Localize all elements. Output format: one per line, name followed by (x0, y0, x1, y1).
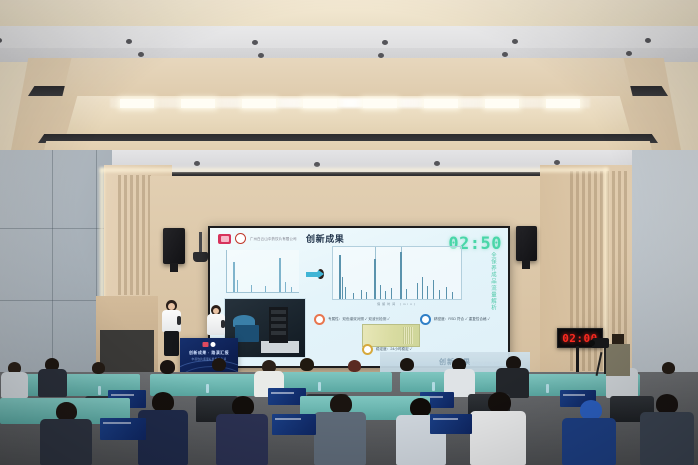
badge-gold-icon (362, 344, 373, 355)
audience-person (300, 358, 314, 371)
audience-person (662, 362, 675, 374)
slide-badge-precision: 精密度：RSD 符合 ✓ 重复性合格 ✓ (420, 314, 490, 325)
chair-back-banner (272, 414, 316, 435)
audience-person (488, 392, 511, 413)
audience-person (152, 392, 174, 412)
water-bottle (98, 386, 101, 395)
badge-blue-icon (420, 314, 431, 325)
ceiling-linear-lights (120, 99, 580, 108)
cove-light-top (100, 168, 608, 172)
lab-monitor (235, 325, 259, 342)
ceiling-upper-wood-strip (0, 0, 698, 28)
led-clock-stand (576, 346, 579, 372)
water-bottle (432, 382, 435, 391)
presentation-slide: 广州白云山中药饮片有限公司 创新成果 02:50 全保养成品流量解析 (210, 228, 508, 366)
audience-person (38, 369, 67, 397)
audience-person (400, 358, 414, 371)
badge-orange-label: 专属性：双色谱双对照 ✓ 双波长检测 ✓ (328, 317, 390, 322)
slide-title: 创新成果 (306, 232, 344, 245)
audience-person (1, 372, 28, 398)
podium-title: 创新成果 · 路演汇报 (180, 350, 238, 356)
pendant-light-cable (199, 232, 202, 254)
secondary-logo-icon (235, 233, 246, 244)
audience-person (314, 412, 366, 465)
loudspeaker-right-bracket (522, 260, 530, 269)
audience-person (330, 394, 352, 414)
projection-screen: 广州白云山中药饮片有限公司 创新成果 02:50 全保养成品流量解析 (208, 226, 510, 368)
instrument-rack (269, 307, 288, 343)
presenter-left-microphone (177, 316, 181, 325)
slide-main-chromatogram: 保留时间 (min) (332, 246, 462, 300)
slide-vertical-caption: 全保养成品流量解析 (489, 252, 497, 311)
conference-hall-photo: 广州白云山中药饮片有限公司 创新成果 02:50 全保养成品流量解析 (0, 0, 698, 465)
badge-orange-icon (314, 314, 325, 325)
loudspeaker-left (163, 228, 185, 264)
presenter-left-face (168, 303, 175, 310)
tripod-leg-1 (604, 344, 606, 374)
presenter-right-microphone (221, 320, 225, 328)
slide-org-name: 广州白云山中药饮片有限公司 (250, 236, 297, 241)
loudspeaker-right (516, 226, 537, 261)
water-bottle (318, 382, 321, 391)
slide-mini-chromatogram (226, 250, 299, 293)
audience-person (40, 419, 92, 465)
audience-person-cap (580, 400, 602, 420)
podium-logo-group (203, 342, 216, 347)
company-logo-icon (218, 234, 231, 244)
audience-person (470, 411, 526, 465)
audience-person (92, 362, 105, 374)
wall-partition-right (632, 150, 698, 380)
audience-person (160, 360, 175, 374)
audience-person (562, 418, 616, 465)
chair-back-banner (430, 414, 472, 434)
chart-x-axis-label: 保留时间 (min) (333, 302, 461, 306)
audience-person (656, 394, 678, 414)
camera-lens-icon (589, 340, 595, 346)
camera-operator-body (606, 344, 630, 376)
slide-logo-group: 广州白云山中药饮片有限公司 (218, 233, 297, 244)
pendant-light-head (193, 252, 208, 262)
water-bottle (546, 384, 549, 393)
audience-person (212, 358, 226, 371)
podium-subtitle: 中药饮片质量标准提升专项 (180, 357, 238, 361)
audience-person (348, 360, 361, 372)
audience-person (640, 412, 694, 465)
audience-person (232, 396, 254, 416)
water-bottle (206, 384, 209, 393)
chair-back-banner (100, 418, 146, 440)
audience-person (216, 414, 268, 465)
presenter-left-trousers (164, 331, 179, 356)
loudspeaker-left-bracket (170, 263, 178, 272)
badge-blue-label: 精密度：RSD 符合 ✓ 重复性合格 ✓ (434, 317, 490, 322)
